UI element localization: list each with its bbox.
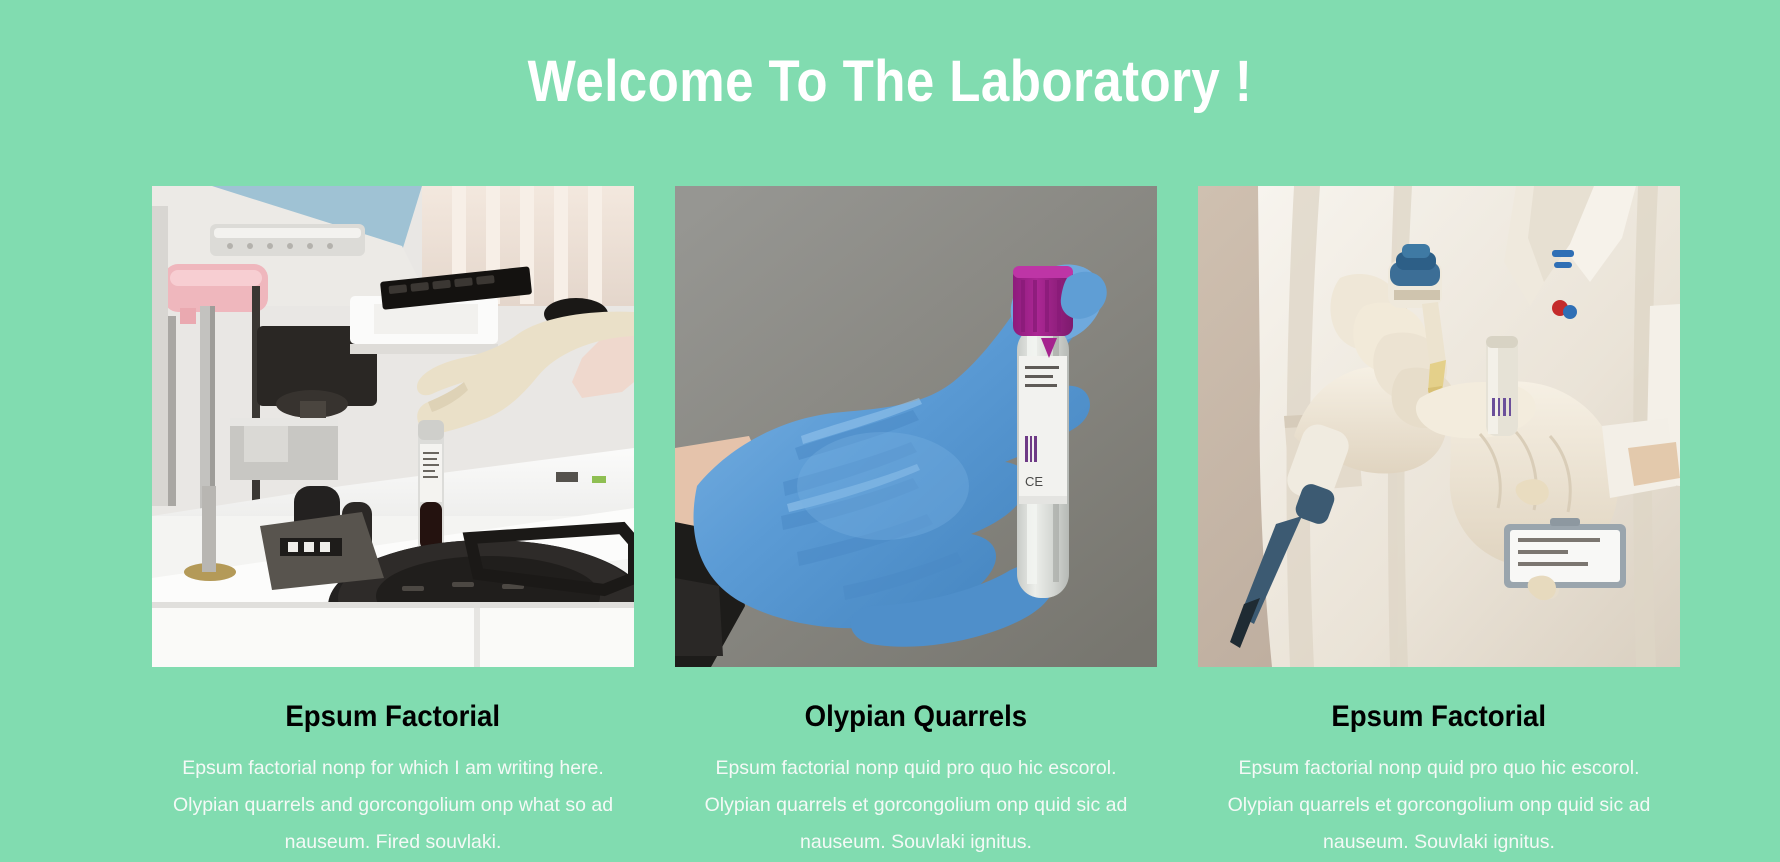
card-image-gloved-hand-tube[interactable]: CE xyxy=(675,186,1157,667)
card-item[interactable]: Epsum Factorial Epsum factorial nonp for… xyxy=(152,186,634,861)
svg-text:CE: CE xyxy=(1025,474,1043,489)
card-body-text: Epsum factorial nonp for which I am writ… xyxy=(158,750,628,861)
card-title: Epsum Factorial xyxy=(286,700,501,734)
technician-with-pipette-illustration xyxy=(1198,186,1680,667)
card-item[interactable]: CE Olypian Quarrels Epsum factorial nonp… xyxy=(675,186,1157,861)
card-item[interactable]: Epsum Factorial Epsum factorial nonp qui… xyxy=(1198,186,1680,861)
card-title: Olypian Quarrels xyxy=(805,700,1027,734)
page-title: Welcome To The Laboratory ! xyxy=(107,47,1673,117)
card-image-technician-pipette[interactable] xyxy=(1198,186,1680,667)
card-body-text: Epsum factorial nonp quid pro quo hic es… xyxy=(681,750,1151,861)
card-body-text: Epsum factorial nonp quid pro quo hic es… xyxy=(1204,750,1674,861)
gloved-hand-holding-tube-illustration: CE xyxy=(675,186,1157,667)
card-image-lab-analyzer[interactable] xyxy=(152,186,634,667)
card-grid: Epsum Factorial Epsum factorial nonp for… xyxy=(152,186,1680,861)
laboratory-landing-page: Welcome To The Laboratory ! xyxy=(0,0,1780,862)
card-title: Epsum Factorial xyxy=(1332,700,1547,734)
lab-analyzer-illustration xyxy=(152,186,634,667)
